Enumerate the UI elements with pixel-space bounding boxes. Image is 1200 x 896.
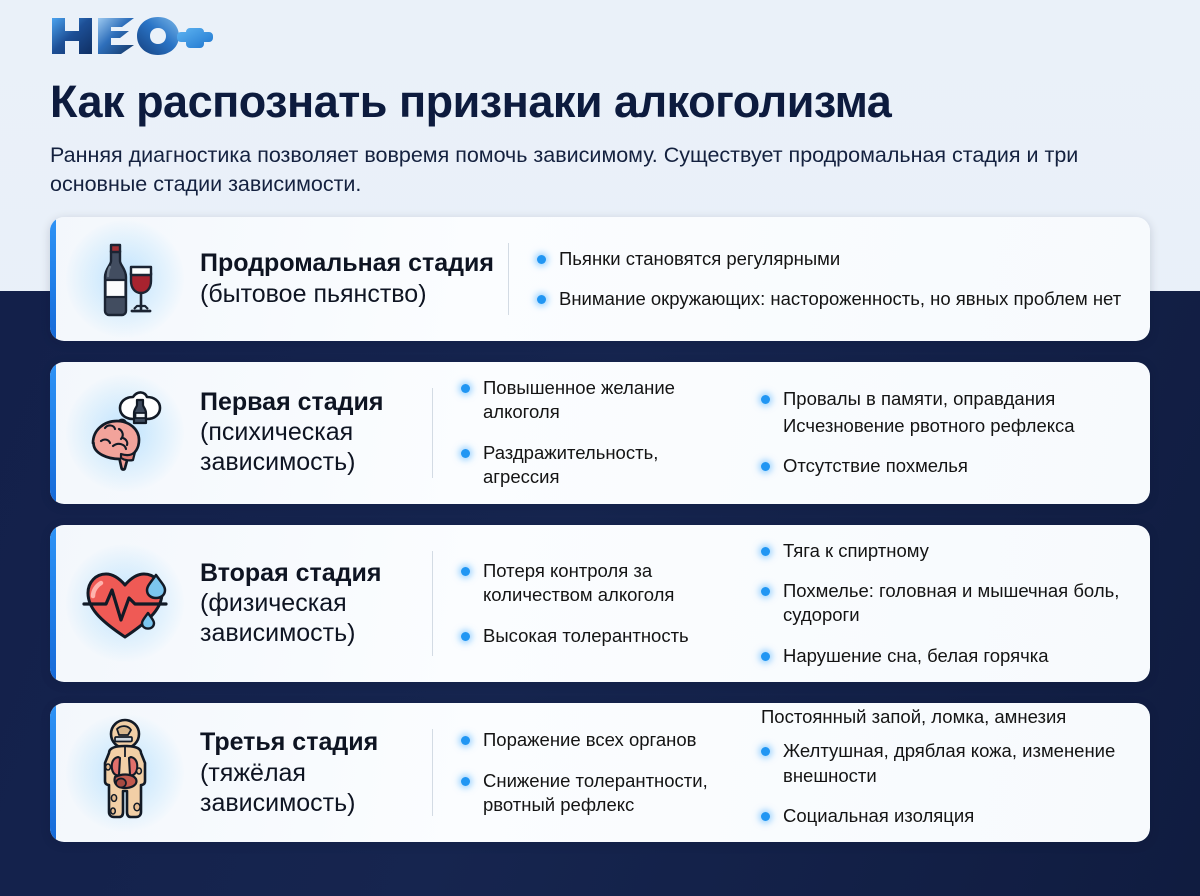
- stage-card-prodromal: Продромальная стадия (бытовое пьянство) …: [50, 217, 1150, 341]
- bullet-dot-icon: [461, 567, 470, 576]
- list-item: Нарушение сна, белая горячка: [761, 644, 1134, 668]
- bullet-dot-icon: [761, 812, 770, 821]
- stage-heading-main: Вторая стадия: [200, 559, 418, 589]
- list-item-text: Поражение всех органов: [483, 729, 697, 750]
- list-item: Раздражительность, агрессия: [461, 441, 733, 490]
- stage-icon-wrapper: [50, 525, 200, 683]
- list-item: Поражение всех органов: [461, 728, 733, 752]
- stage-heading-main: Первая стадия: [200, 388, 418, 418]
- bullet-dot-icon: [461, 777, 470, 786]
- stage-column: Тяга к спиртному Похмелье: головная и мы…: [733, 539, 1134, 669]
- wine-bottle-and-glass-icon: [77, 231, 173, 327]
- heart-with-pulse-icon: [76, 557, 174, 649]
- stage-body: Повышенное желание алкоголя Раздражитель…: [433, 362, 1150, 504]
- stage-heading-sub: (психическая зависимость): [200, 417, 418, 477]
- stage-body: Потеря контроля за количеством алкоголя …: [433, 525, 1150, 683]
- bullet-dot-icon: [461, 632, 470, 641]
- list-item-text: Желтушная, дряблая кожа, изменение внешн…: [783, 740, 1115, 785]
- list-item-text: Потеря контроля за количеством алкоголя: [483, 560, 674, 605]
- bullet-dot-icon: [461, 449, 470, 458]
- stage-column: Постоянный запой, ломка, амнезия Желтушн…: [733, 717, 1134, 828]
- list-item: Отсутствие похмелья: [761, 454, 1134, 478]
- list-item-text: Раздражительность, агрессия: [483, 442, 658, 487]
- stage-column: Потеря контроля за количеством алкоголя …: [433, 559, 733, 648]
- list-item: Снижение толерантности, рвотный рефлекс: [461, 769, 733, 818]
- stage-card-third: Третья стадия (тяжёлая зависимость) Пора…: [50, 703, 1150, 842]
- list-item: Пьянки становятся регулярными: [537, 247, 1134, 271]
- page-subtitle: Ранняя диагностика позволяет вовремя пом…: [50, 141, 1080, 200]
- stage-heading-main: Третья стадия: [200, 728, 418, 758]
- stage-card-list: Продромальная стадия (бытовое пьянство) …: [0, 217, 1200, 842]
- list-item-text: Внимание окружающих: настороженность, но…: [559, 288, 1121, 309]
- list-item: Высокая толерантность: [461, 624, 733, 648]
- bullet-dot-icon: [761, 747, 770, 756]
- list-item: Провалы в памяти, оправдания: [761, 387, 1134, 411]
- list-item-text: Нарушение сна, белая горячка: [783, 645, 1049, 666]
- bullet-dot-icon: [761, 547, 770, 556]
- stage-heading: Вторая стадия (физическая зависимость): [200, 525, 432, 683]
- list-item: Повышенное желание алкоголя: [461, 376, 733, 425]
- list-item: Потеря контроля за количеством алкоголя: [461, 559, 733, 608]
- stage-icon-wrapper: [50, 703, 200, 842]
- header: Как распознать признаки алкоголизма Ранн…: [0, 0, 1200, 200]
- bullet-dot-icon: [537, 295, 546, 304]
- list-item: Похмелье: головная и мышечная боль, судо…: [761, 579, 1134, 628]
- stage-icon-wrapper: [50, 362, 200, 504]
- list-item-text: Пьянки становятся регулярными: [559, 248, 840, 269]
- brain-with-thought-bubble-icon: [75, 383, 175, 483]
- stage-body: Поражение всех органов Снижение толерант…: [433, 703, 1150, 842]
- bullet-dot-icon: [461, 736, 470, 745]
- bullet-dot-icon: [761, 652, 770, 661]
- list-item-text: Повышенное желание алкоголя: [483, 377, 675, 422]
- list-item-text: Исчезновение рвотного рефлекса: [783, 415, 1075, 436]
- stage-heading-sub: (тяжёлая зависимость): [200, 758, 418, 818]
- neo-plus-logo-icon: [50, 14, 215, 58]
- stage-heading: Продромальная стадия (бытовое пьянство): [200, 217, 508, 341]
- list-item: Социальная изоляция: [761, 804, 1134, 828]
- stage-body: Пьянки становятся регулярными Внимание о…: [509, 217, 1150, 341]
- stage-card-second: Вторая стадия (физическая зависимость) П…: [50, 525, 1150, 683]
- list-item-text: Высокая толерантность: [483, 625, 689, 646]
- bullet-dot-icon: [761, 587, 770, 596]
- list-item: Желтушная, дряблая кожа, изменение внешн…: [761, 739, 1134, 788]
- stage-heading: Третья стадия (тяжёлая зависимость): [200, 703, 432, 842]
- list-item: Внимание окружающих: настороженность, но…: [537, 287, 1134, 311]
- list-item-text: Похмелье: головная и мышечная боль, судо…: [783, 580, 1119, 625]
- bullet-dot-icon: [537, 255, 546, 264]
- infographic-page: Как распознать признаки алкоголизма Ранн…: [0, 0, 1200, 896]
- stage-column: Пьянки становятся регулярными Внимание о…: [509, 247, 1134, 312]
- overflow-list-item-text: Постоянный запой, ломка, амнезия: [761, 705, 1066, 729]
- list-item-text: Отсутствие похмелья: [783, 455, 968, 476]
- stage-icon-wrapper: [50, 217, 200, 341]
- page-title: Как распознать признаки алкоголизма: [50, 78, 1150, 127]
- bullet-dot-icon: [761, 462, 770, 471]
- stage-heading-sub: (бытовое пьянство): [200, 279, 494, 309]
- list-item-text: Социальная изоляция: [783, 805, 974, 826]
- bullet-dot-icon: [461, 384, 470, 393]
- stage-heading-main: Продромальная стадия: [200, 249, 494, 279]
- bullet-dot-icon: [761, 395, 770, 404]
- stage-column: Повышенное желание алкоголя Раздражитель…: [433, 376, 733, 490]
- stage-column: Провалы в памяти, оправдания Исчезновени…: [733, 387, 1134, 479]
- stage-heading-sub: (физическая зависимость): [200, 588, 418, 648]
- brand-logo: [50, 14, 1150, 58]
- stage-card-first: Первая стадия (психическая зависимость) …: [50, 362, 1150, 504]
- list-item: Исчезновение рвотного рефлекса: [761, 414, 1134, 438]
- human-body-organs-icon: [79, 717, 171, 829]
- list-item-text: Провалы в памяти, оправдания: [783, 388, 1055, 409]
- list-item-text: Снижение толерантности, рвотный рефлекс: [483, 770, 708, 815]
- stage-heading: Первая стадия (психическая зависимость): [200, 362, 432, 504]
- list-item-text: Тяга к спиртному: [783, 540, 929, 561]
- stage-column: Поражение всех органов Снижение толерант…: [433, 728, 733, 817]
- list-item: Тяга к спиртному: [761, 539, 1134, 563]
